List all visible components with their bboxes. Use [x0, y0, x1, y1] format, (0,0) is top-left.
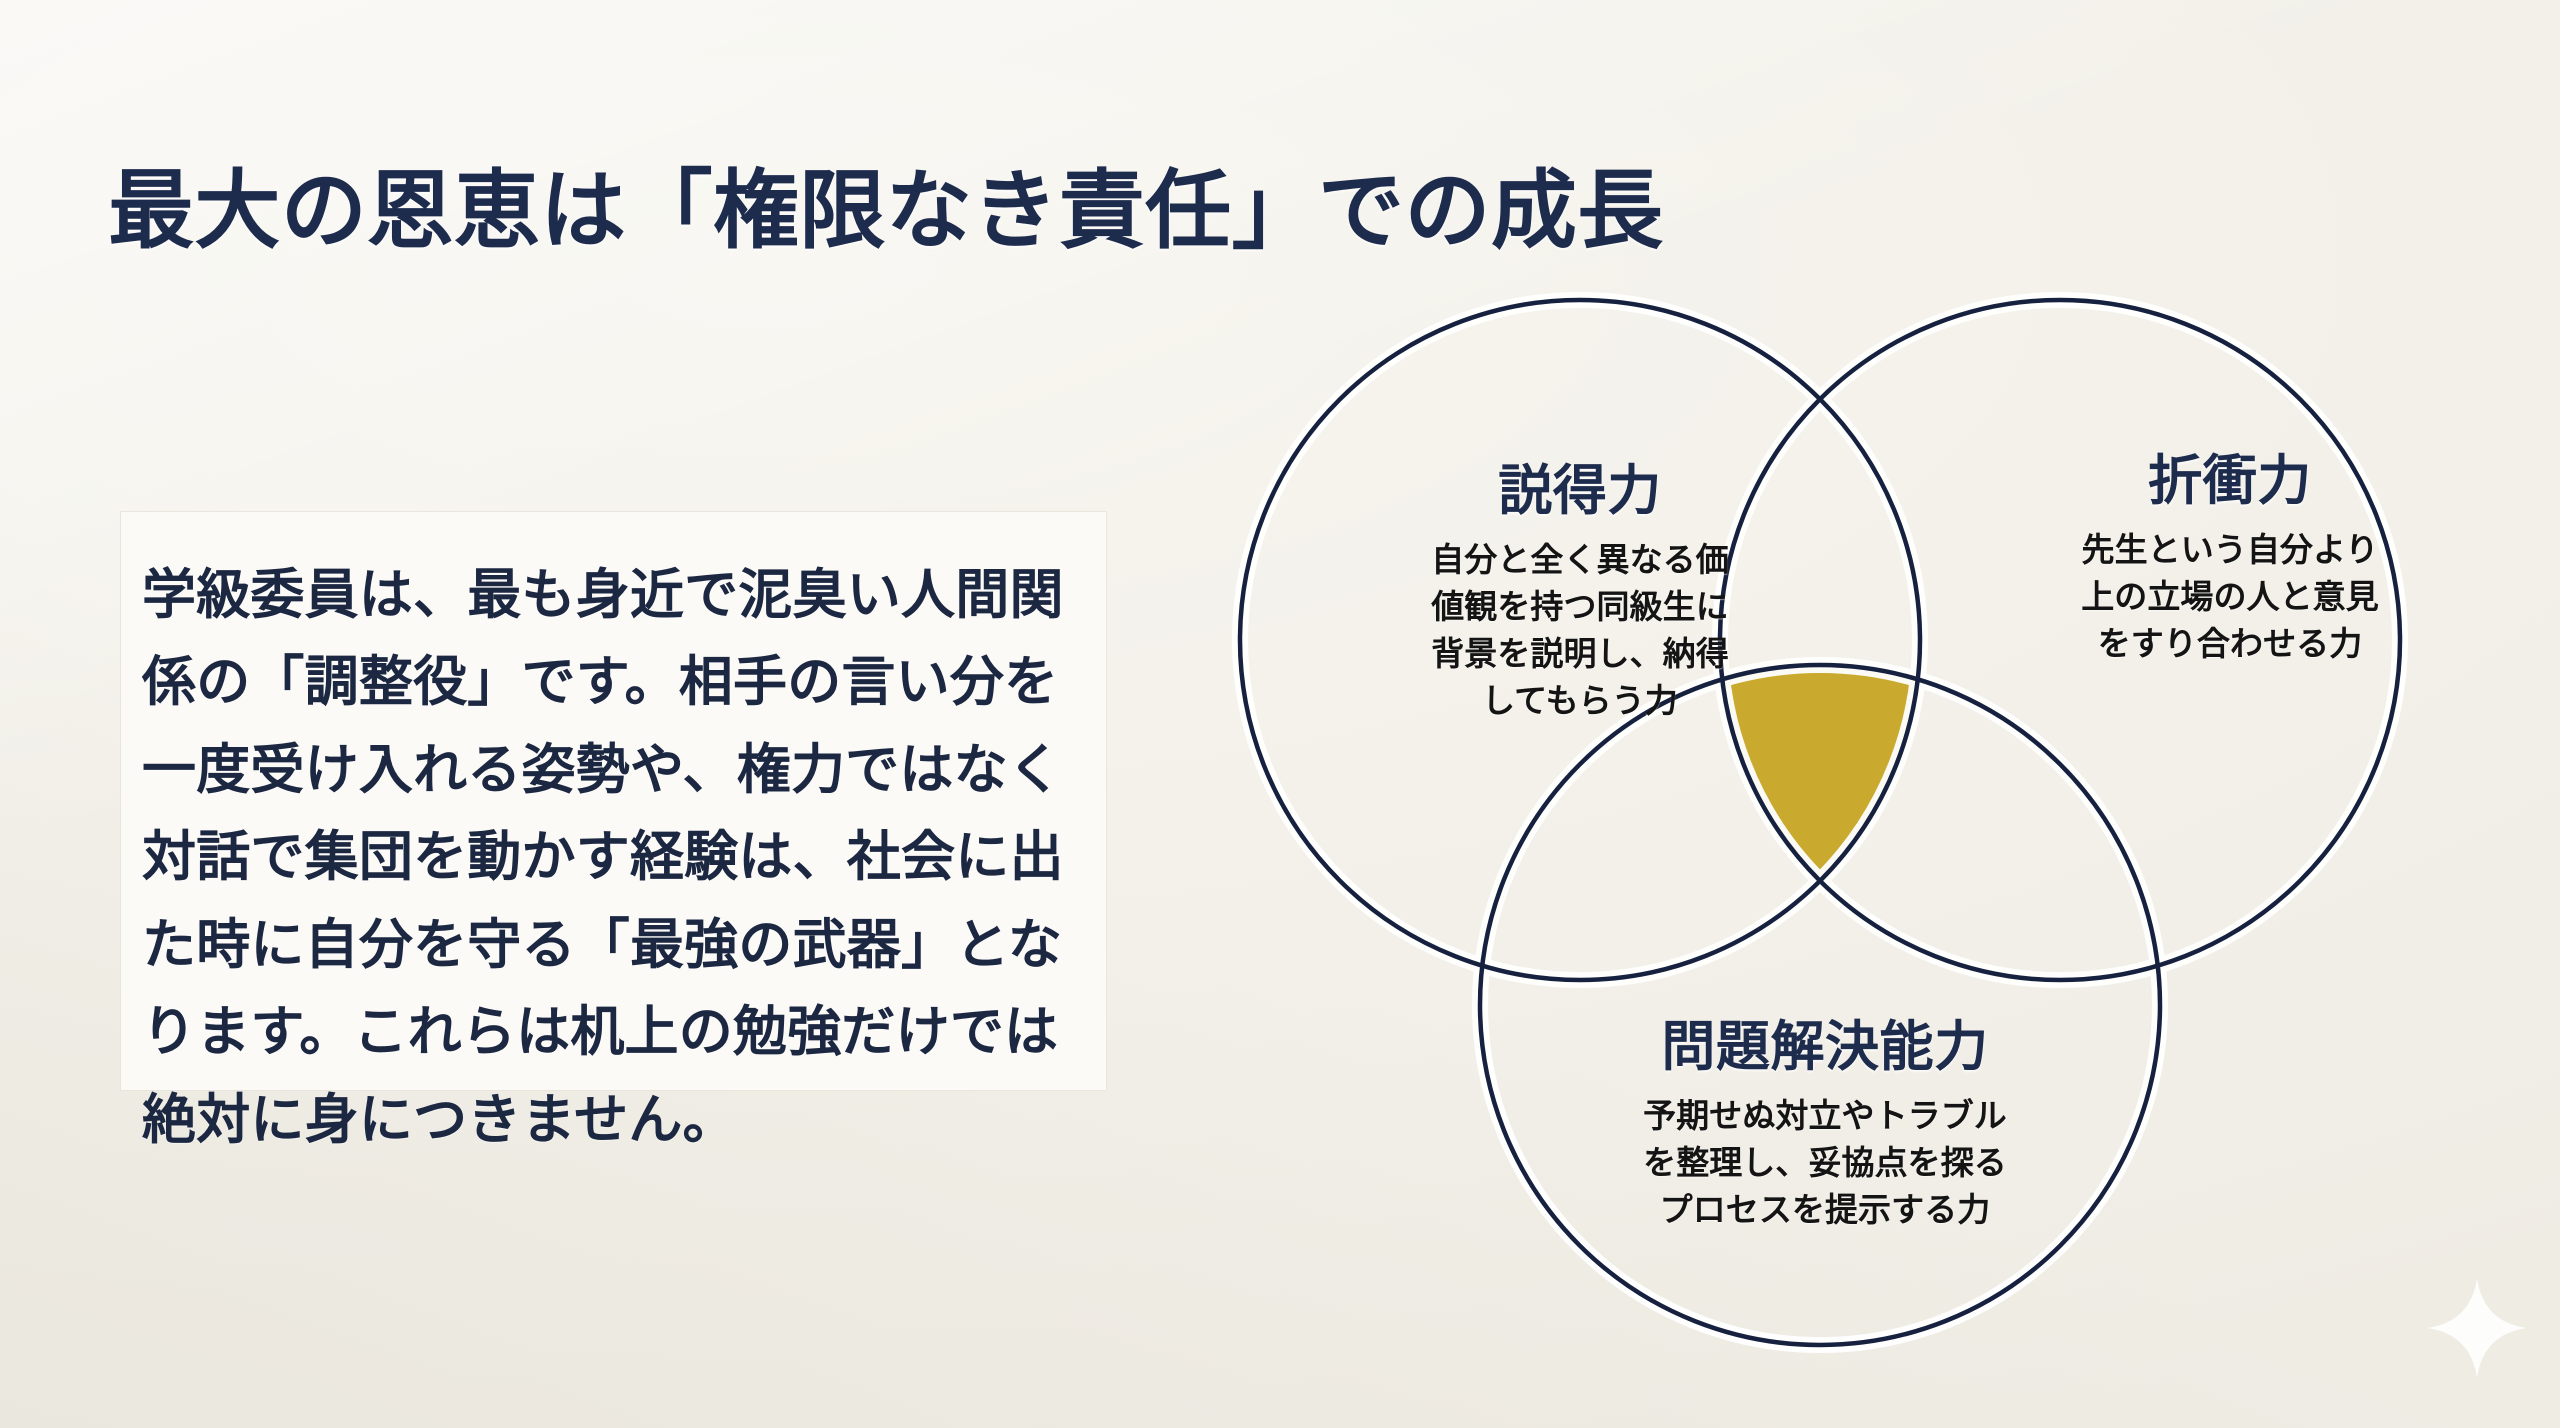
copy-panel-text: 学級委員は、最も身近で泥臭い人間関係の「調整役」です。相手の言い分を一度受け入れ… [142, 552, 1072, 1164]
venn-diagram [1200, 170, 2460, 1400]
sparkle-icon [2425, 1276, 2529, 1380]
slide-canvas: 最大の恩恵は「権限なき責任」での成長 学級委員は、最も身近で泥臭い人間関係の「調… [0, 0, 2560, 1428]
